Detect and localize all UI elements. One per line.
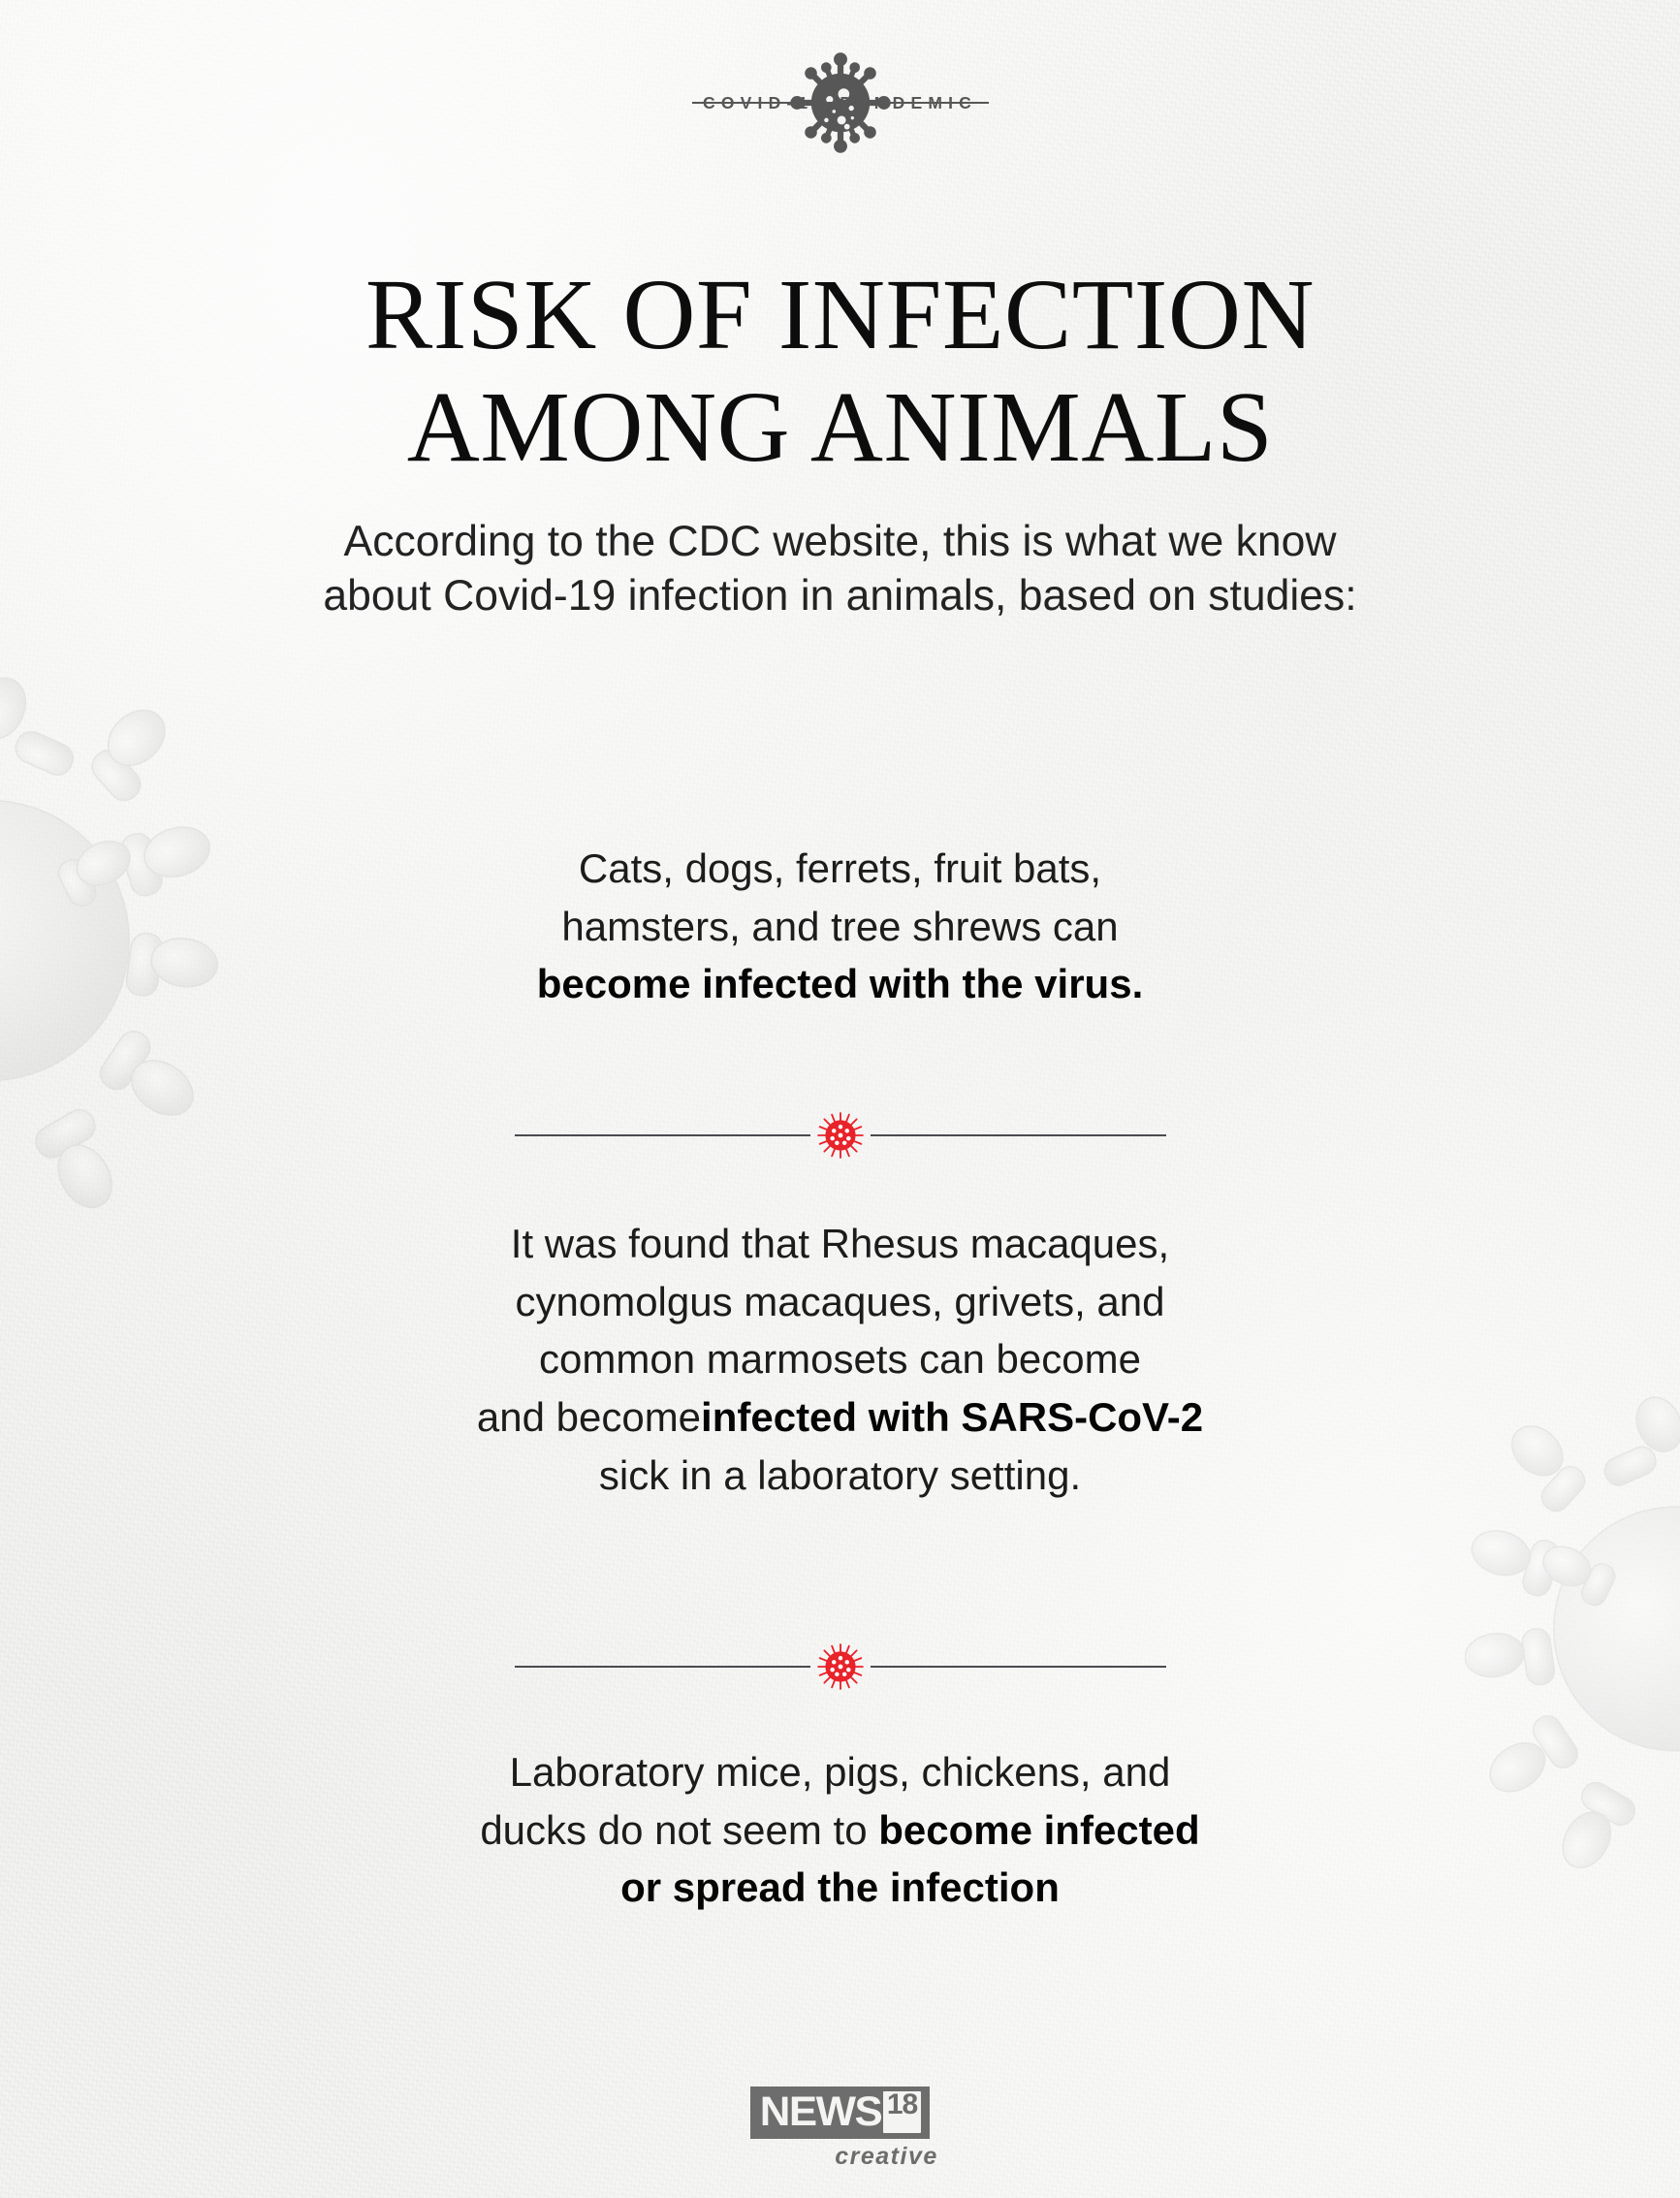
page-title-line2: AMONG ANIMALS [0, 376, 1680, 479]
section-divider-1 [515, 1107, 1166, 1163]
subtitle-line1: According to the CDC website, this is wh… [0, 515, 1680, 569]
text-run-bold: infected with SARS-CoV-2 [701, 1394, 1203, 1440]
text-run: Laboratory mice, pigs, chickens, and [510, 1749, 1171, 1795]
header-logo: COVID-19 PANDEMIC [0, 45, 1680, 161]
text-run: common marmosets can become [539, 1336, 1141, 1382]
divider-rule-left [515, 1666, 810, 1668]
paragraph-line: hamsters, and tree shrews can [0, 898, 1680, 956]
divider-rule-right [871, 1666, 1166, 1668]
footer-logo: NEWS 18 creative [0, 2087, 1680, 2171]
paragraph-line: and becomeinfected with SARS-CoV-2 [0, 1388, 1680, 1447]
text-run: cynomolgus macaques, grivets, and [515, 1279, 1164, 1324]
page-title: RISK OF INFECTION AMONG ANIMALS [0, 264, 1680, 479]
poster-canvas: COVID-19 PANDEMIC RISK OF INFECTION AMON… [0, 0, 1680, 2198]
text-run: sick in a laboratory setting. [599, 1452, 1081, 1498]
text-run: hamsters, and tree shrews can [561, 904, 1118, 949]
text-run-bold: become infected [878, 1807, 1199, 1853]
divider-rule-left [515, 1134, 810, 1136]
paragraph-line: Cats, dogs, ferrets, fruit bats, [0, 840, 1680, 898]
paragraph-line: sick in a laboratory setting. [0, 1447, 1680, 1505]
text-run-bold: become infected with the virus. [537, 961, 1143, 1006]
fact-paragraph-2: It was found that Rhesus macaques,cynomo… [0, 1215, 1680, 1504]
news18-number: 18 [883, 2091, 921, 2133]
page-title-line1: RISK OF INFECTION [0, 264, 1680, 366]
paragraph-line: become infected with the virus. [0, 955, 1680, 1013]
news18-wordmark: NEWS [760, 2091, 881, 2133]
text-run: It was found that Rhesus macaques, [511, 1221, 1169, 1266]
paragraph-line: cynomolgus macaques, grivets, and [0, 1273, 1680, 1331]
coronavirus-icon [815, 1110, 866, 1161]
fact-paragraph-3: Laboratory mice, pigs, chickens, andduck… [0, 1743, 1680, 1917]
coronavirus-icon [815, 1641, 866, 1692]
paragraph-line: common marmosets can become [0, 1330, 1680, 1388]
text-run: ducks do not seem to [480, 1807, 878, 1853]
section-divider-2 [515, 1639, 1166, 1695]
text-run-bold: or spread the infection [620, 1864, 1060, 1910]
paragraph-line: ducks do not seem to become infected [0, 1801, 1680, 1860]
text-run: Cats, dogs, ferrets, fruit bats, [579, 845, 1101, 891]
logo-text: COVID-19 PANDEMIC [703, 92, 977, 114]
subtitle-line2: about Covid-19 infection in animals, bas… [0, 569, 1680, 623]
news18-logo: NEWS 18 [750, 2087, 930, 2139]
logo-wrap: COVID-19 PANDEMIC [681, 45, 1000, 161]
fact-paragraph-1: Cats, dogs, ferrets, fruit bats,hamsters… [0, 840, 1680, 1013]
page-subtitle: According to the CDC website, this is wh… [0, 515, 1680, 623]
paragraph-line: It was found that Rhesus macaques, [0, 1215, 1680, 1273]
paragraph-line: or spread the infection [0, 1859, 1680, 1917]
paragraph-line: Laboratory mice, pigs, chickens, and [0, 1743, 1680, 1801]
news18-tagline: creative [835, 2143, 938, 2171]
divider-rule-right [871, 1134, 1166, 1136]
text-run: and become [477, 1394, 701, 1440]
